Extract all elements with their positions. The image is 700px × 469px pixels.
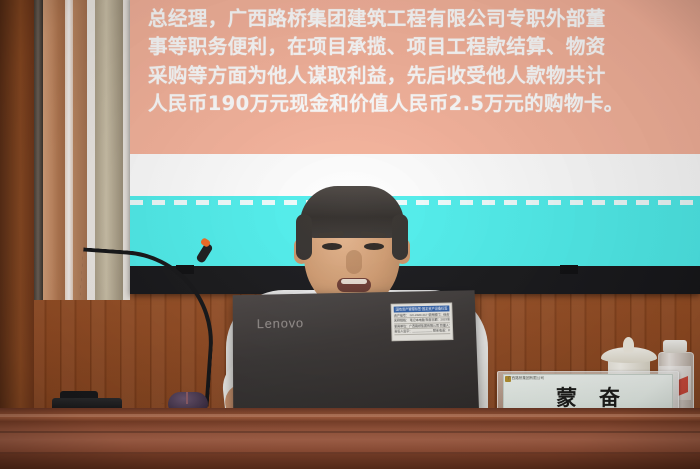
person-eye-right	[364, 243, 384, 250]
person-teeth	[341, 279, 367, 284]
conference-photo: 利用其担任广西路桥集团有限公司 总经理，广西路桥集团建筑工程有限公司专职外部董 …	[0, 0, 700, 469]
person-hair	[300, 186, 404, 238]
laptop-lid: Lenovo 国有资产管理标签·固定资产设备标签 资产编号： GX-2023-0…	[233, 290, 480, 425]
person-hair-left	[296, 214, 312, 260]
sticker-rows: 资产编号： GX-2023-017 使用部门：综合管理部 名称规格： 笔记本电脑…	[394, 311, 450, 335]
wall-trim-metal-left	[34, 0, 43, 300]
slide-line-3: 事等职务便利，在项目承揽、项目工程款结算、物资	[148, 33, 692, 62]
slide-line-1: 利用其担任广西路桥集团有限公司	[148, 0, 692, 5]
sticker-header: 国有资产管理标签·固定资产设备标签	[394, 305, 450, 312]
sticker-row-4: 责任人签字：____________ 联系电话：0771-____	[394, 328, 450, 335]
water-bottle-cap	[663, 340, 687, 353]
person-eye-left	[322, 243, 342, 250]
desk-front-panel	[0, 454, 700, 469]
person-hair-right	[392, 214, 408, 260]
slide-line-2: 总经理，广西路桥集团建筑工程有限公司专职外部董	[148, 5, 692, 34]
wall-trim-wood-left	[43, 0, 65, 300]
lenovo-logo: Lenovo	[257, 315, 304, 331]
slide-line-4: 采购等方面为他人谋取利益，先后收受他人款物共计	[148, 62, 692, 91]
tea-cup-knob	[623, 337, 634, 353]
desk-molding-top	[0, 414, 700, 417]
desk-molding-middle	[0, 431, 700, 433]
wall-dark-column	[0, 0, 34, 469]
wall-trim-highlight	[65, 0, 73, 300]
slide-text-block: 利用其担任广西路桥集团有限公司 总经理，广西路桥集团建筑工程有限公司专职外部董 …	[148, 0, 692, 119]
screen-bracket-right	[560, 265, 578, 274]
slide-line-5: 人民币190万元现金和价值人民币2.5万元的购物卡。	[148, 90, 692, 119]
person-nose	[346, 250, 362, 274]
computer-mouse-seam	[186, 392, 188, 404]
asset-label-sticker: 国有资产管理标签·固定资产设备标签 资产编号： GX-2023-017 使用部门…	[391, 302, 454, 341]
name-plate-organization: 广西路桥集团有限公司	[508, 376, 544, 381]
